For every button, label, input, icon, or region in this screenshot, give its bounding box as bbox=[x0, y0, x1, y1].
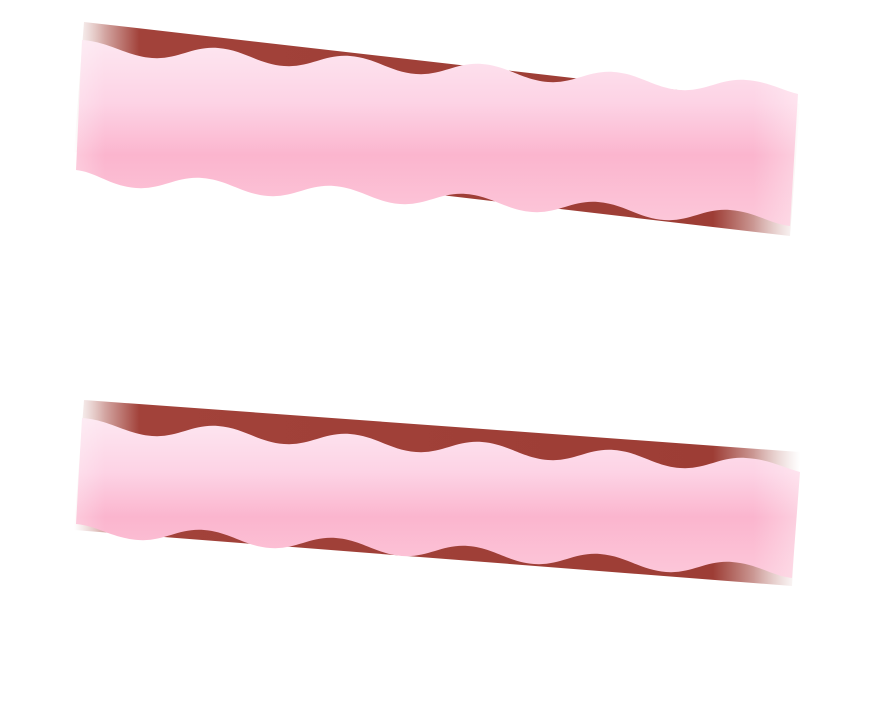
infographic-root bbox=[0, 0, 876, 723]
panel-standard bbox=[0, 380, 876, 723]
panel-liposomal bbox=[0, 0, 876, 350]
blood-vessel-standard bbox=[0, 380, 876, 630]
blood-vessel-liposomal bbox=[0, 0, 876, 252]
